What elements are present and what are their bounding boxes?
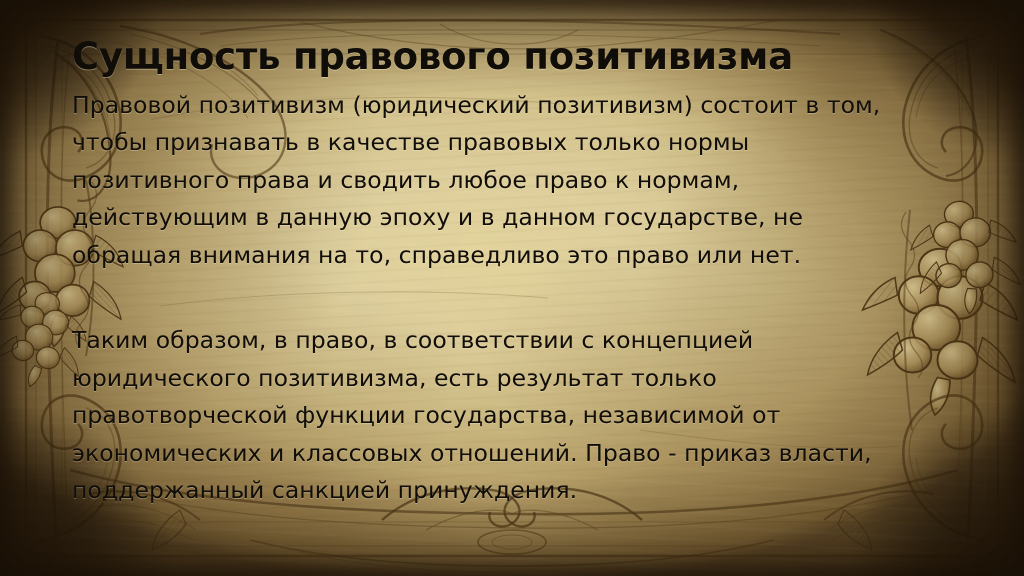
paragraph-spacer [72,274,952,322]
slide-paragraph-2: Таким образом, в право, в соответствии с… [72,322,902,510]
presentation-slide: Сущность правового позитивизма Правовой … [0,0,1024,576]
slide-content: Сущность правового позитивизма Правовой … [72,36,952,510]
slide-title: Сущность правового позитивизма [72,36,952,79]
slide-paragraph-1: Правовой позитивизм (юридический позитив… [72,87,902,275]
